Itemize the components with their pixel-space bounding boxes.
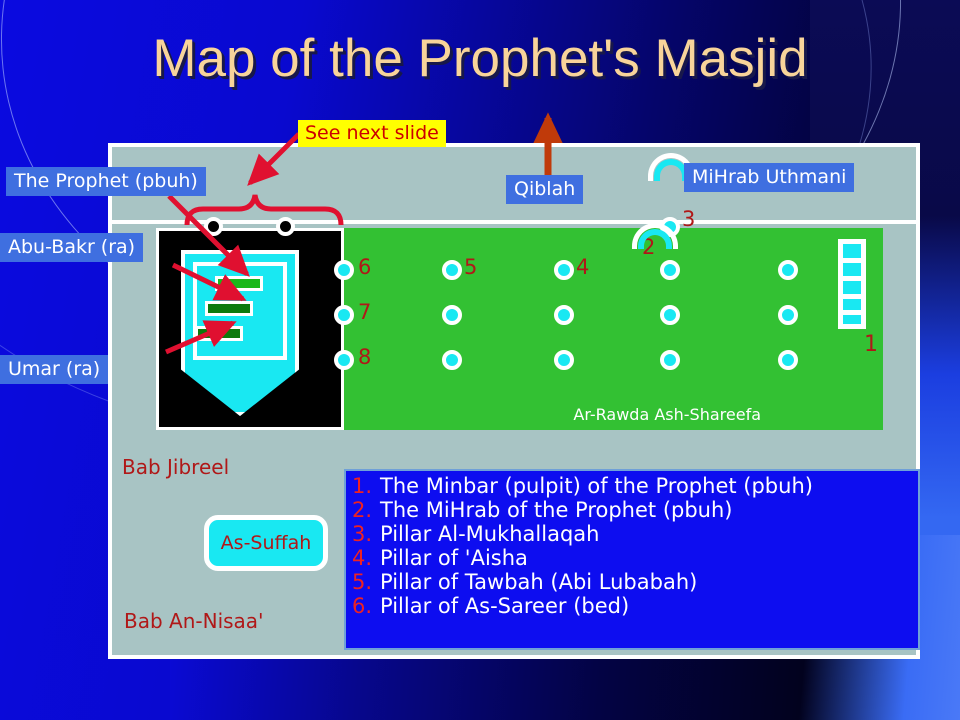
pillar-dot-5 <box>442 260 462 280</box>
pillar-dot-4 <box>554 260 574 280</box>
pillar-dot-r3c3 <box>660 350 680 370</box>
pillar-dot-r3c1 <box>442 350 462 370</box>
ar-rawda-area: Ar-Rawda Ash-Shareefa <box>344 228 883 430</box>
pillar-number-3: 3 <box>682 207 695 231</box>
pillar-dot-r3c4 <box>778 350 798 370</box>
minbar-pulpit-icon <box>838 239 866 329</box>
legend-number-5: 5. <box>352 571 380 595</box>
legend-text-5: Pillar of Tawbah (Abi Lubabah) <box>380 571 697 595</box>
pillar-dot-r3c2 <box>554 350 574 370</box>
pillar-dot-r2c4 <box>778 305 798 325</box>
callout-abu-bakr[interactable]: Abu-Bakr (ra) <box>0 233 143 262</box>
legend-item-3: 3. Pillar Al-Mukhallaqah <box>352 523 918 547</box>
legend-text-3: Pillar Al-Mukhallaqah <box>380 523 599 547</box>
legend-text-6: Pillar of As-Sareer (bed) <box>380 595 629 619</box>
legend-number-4: 4. <box>352 547 380 571</box>
pillar-dot-2 <box>660 260 680 280</box>
legend-item-5: 5. Pillar of Tawbah (Abi Lubabah) <box>352 571 918 595</box>
legend-number-1: 1. <box>352 475 380 499</box>
callout-umar[interactable]: Umar (ra) <box>0 355 108 384</box>
legend-number-3: 3. <box>352 523 380 547</box>
legend-item-6: 6. Pillar of As-Sareer (bed) <box>352 595 918 619</box>
pillar-dot-r2c3 <box>660 305 680 325</box>
gate-bab-an-nisaa-label: Bab An-Nisaa' <box>124 609 264 633</box>
see-next-slide-note[interactable]: See next slide <box>298 120 446 147</box>
pillar-number-4: 4 <box>576 255 589 279</box>
callout-the-prophet[interactable]: The Prophet (pbuh) <box>6 167 206 196</box>
callout-qiblah[interactable]: Qiblah <box>506 175 583 204</box>
pillar-number-8: 8 <box>358 345 371 369</box>
pillar-dot-6 <box>334 260 354 280</box>
legend-text-2: The MiHrab of the Prophet (pbuh) <box>380 499 733 523</box>
prophets-chamber <box>156 228 344 430</box>
pillar-dot-r2c1 <box>442 305 462 325</box>
masjid-map-panel: Ar-Rawda Ash-Shareefa 6 7 8 5 4 <box>108 143 920 659</box>
chamber-door-right-icon <box>276 217 295 236</box>
as-suffah-area: As-Suffah <box>204 515 328 571</box>
legend-item-2: 2. The MiHrab of the Prophet (pbuh) <box>352 499 918 523</box>
slide-canvas: Map of the Prophet's Masjid Ar-Rawda Ash… <box>0 0 960 720</box>
callout-mihrab-uthmani[interactable]: MiHrab Uthmani <box>684 163 854 192</box>
pillar-dot-8 <box>334 350 354 370</box>
legend-text-4: Pillar of 'Aisha <box>380 547 528 571</box>
grave-umar <box>195 326 243 341</box>
pillar-number-5: 5 <box>464 255 477 279</box>
grave-abu-bakr <box>205 301 253 316</box>
legend-text-1: The Minbar (pulpit) of the Prophet (pbuh… <box>380 475 813 499</box>
legend-number-2: 2. <box>352 499 380 523</box>
pillar-dot-7 <box>334 305 354 325</box>
legend-item-1: 1. The Minbar (pulpit) of the Prophet (p… <box>352 475 918 499</box>
legend-box: 1. The Minbar (pulpit) of the Prophet (p… <box>344 469 920 650</box>
chamber-door-left-icon <box>204 217 223 236</box>
pillar-number-7: 7 <box>358 300 371 324</box>
pillar-dot-r2c2 <box>554 305 574 325</box>
pillar-number-1: 1 <box>864 332 878 357</box>
legend-item-4: 4. Pillar of 'Aisha <box>352 547 918 571</box>
pillar-dot-r1c4 <box>778 260 798 280</box>
grave-prophet <box>215 276 263 291</box>
gate-bab-jibreel-label: Bab Jibreel <box>122 455 229 479</box>
ar-rawda-label: Ar-Rawda Ash-Shareefa <box>573 405 761 424</box>
pillar-number-6: 6 <box>358 255 371 279</box>
legend-number-6: 6. <box>352 595 380 619</box>
page-title: Map of the Prophet's Masjid <box>0 28 960 89</box>
